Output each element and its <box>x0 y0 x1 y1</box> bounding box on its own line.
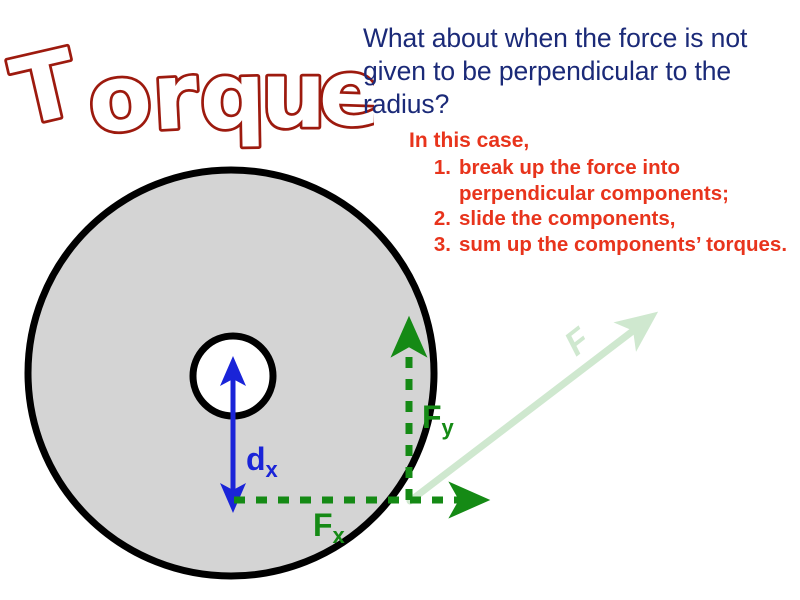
torque-diagram: F dx Fy Fx <box>0 0 800 600</box>
diagram-svg: F dx Fy Fx <box>0 0 800 600</box>
force-vector-label: F <box>558 320 599 363</box>
slide-canvas: T o r q u e What about when the force is… <box>0 0 800 600</box>
force-y-label: Fy <box>422 399 455 440</box>
force-vector-arrow <box>410 324 642 501</box>
